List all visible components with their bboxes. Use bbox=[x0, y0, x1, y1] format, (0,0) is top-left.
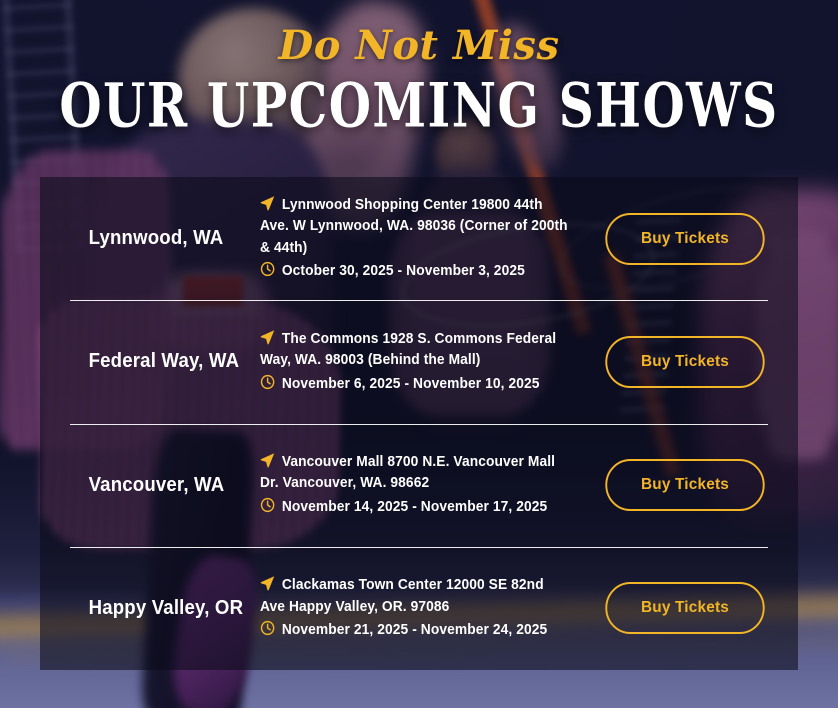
show-details: The Commons 1928 S. Commons Federal Way,… bbox=[260, 329, 602, 395]
clock-icon bbox=[260, 497, 275, 513]
heading-kicker: Do Not Miss bbox=[0, 26, 838, 66]
show-row: Federal Way, WAThe Commons 1928 S. Commo… bbox=[40, 300, 798, 423]
show-venue-text: Clackamas Town Center 12000 SE 82nd Ave … bbox=[260, 577, 544, 614]
show-dates-line: November 6, 2025 - November 10, 2025 bbox=[260, 374, 568, 395]
show-cta-wrap: Buy Tickets bbox=[602, 213, 768, 265]
show-dates-line: November 21, 2025 - November 24, 2025 bbox=[260, 620, 568, 641]
location-arrow-icon bbox=[260, 575, 275, 591]
show-cta-wrap: Buy Tickets bbox=[602, 336, 768, 388]
show-row: Happy Valley, ORClackamas Town Center 12… bbox=[40, 547, 798, 670]
show-city: Federal Way, WA bbox=[70, 347, 247, 376]
shows-list: Lynnwood, WALynnwood Shopping Center 198… bbox=[40, 177, 798, 670]
show-details: Vancouver Mall 8700 N.E. Vancouver Mall … bbox=[260, 452, 602, 518]
upcoming-shows-page: Do Not Miss OUR UPCOMING SHOWS Lynnwood,… bbox=[0, 0, 838, 708]
page-title: OUR UPCOMING SHOWS bbox=[13, 74, 826, 138]
show-venue-text: Lynnwood Shopping Center 19800 44th Ave.… bbox=[260, 197, 568, 256]
show-venue-line: The Commons 1928 S. Commons Federal Way,… bbox=[260, 329, 568, 372]
show-dates-text: October 30, 2025 - November 3, 2025 bbox=[282, 263, 525, 279]
show-cta-wrap: Buy Tickets bbox=[602, 459, 768, 511]
clock-icon bbox=[260, 261, 275, 277]
show-venue-text: The Commons 1928 S. Commons Federal Way,… bbox=[260, 331, 556, 368]
location-arrow-icon bbox=[260, 329, 275, 345]
show-dates-text: November 14, 2025 - November 17, 2025 bbox=[282, 499, 547, 515]
location-arrow-icon bbox=[260, 452, 275, 468]
show-cta-wrap: Buy Tickets bbox=[602, 582, 768, 634]
show-city: Happy Valley, OR bbox=[70, 594, 247, 623]
upcoming-shows-panel: Lynnwood, WALynnwood Shopping Center 198… bbox=[40, 177, 798, 670]
buy-tickets-button[interactable]: Buy Tickets bbox=[605, 459, 764, 511]
buy-tickets-button[interactable]: Buy Tickets bbox=[605, 213, 764, 265]
show-dates-text: November 6, 2025 - November 10, 2025 bbox=[282, 376, 540, 392]
clock-icon bbox=[260, 620, 275, 636]
show-dates-line: November 14, 2025 - November 17, 2025 bbox=[260, 497, 568, 518]
show-city: Lynnwood, WA bbox=[70, 224, 247, 253]
show-dates-line: October 30, 2025 - November 3, 2025 bbox=[260, 261, 568, 282]
buy-tickets-button[interactable]: Buy Tickets bbox=[605, 336, 764, 388]
show-venue-line: Lynnwood Shopping Center 19800 44th Ave.… bbox=[260, 195, 568, 259]
show-row: Vancouver, WAVancouver Mall 8700 N.E. Va… bbox=[40, 424, 798, 547]
show-city: Vancouver, WA bbox=[70, 471, 247, 500]
show-venue-line: Clackamas Town Center 12000 SE 82nd Ave … bbox=[260, 575, 568, 618]
show-venue-line: Vancouver Mall 8700 N.E. Vancouver Mall … bbox=[260, 452, 568, 495]
show-dates-text: November 21, 2025 - November 24, 2025 bbox=[282, 622, 547, 638]
section-heading: Do Not Miss OUR UPCOMING SHOWS bbox=[0, 26, 838, 127]
location-arrow-icon bbox=[260, 195, 275, 211]
show-details: Clackamas Town Center 12000 SE 82nd Ave … bbox=[260, 575, 602, 641]
show-venue-text: Vancouver Mall 8700 N.E. Vancouver Mall … bbox=[260, 454, 555, 491]
buy-tickets-button[interactable]: Buy Tickets bbox=[605, 582, 764, 634]
clock-icon bbox=[260, 374, 275, 390]
show-row: Lynnwood, WALynnwood Shopping Center 198… bbox=[40, 177, 798, 300]
show-details: Lynnwood Shopping Center 19800 44th Ave.… bbox=[260, 195, 602, 283]
